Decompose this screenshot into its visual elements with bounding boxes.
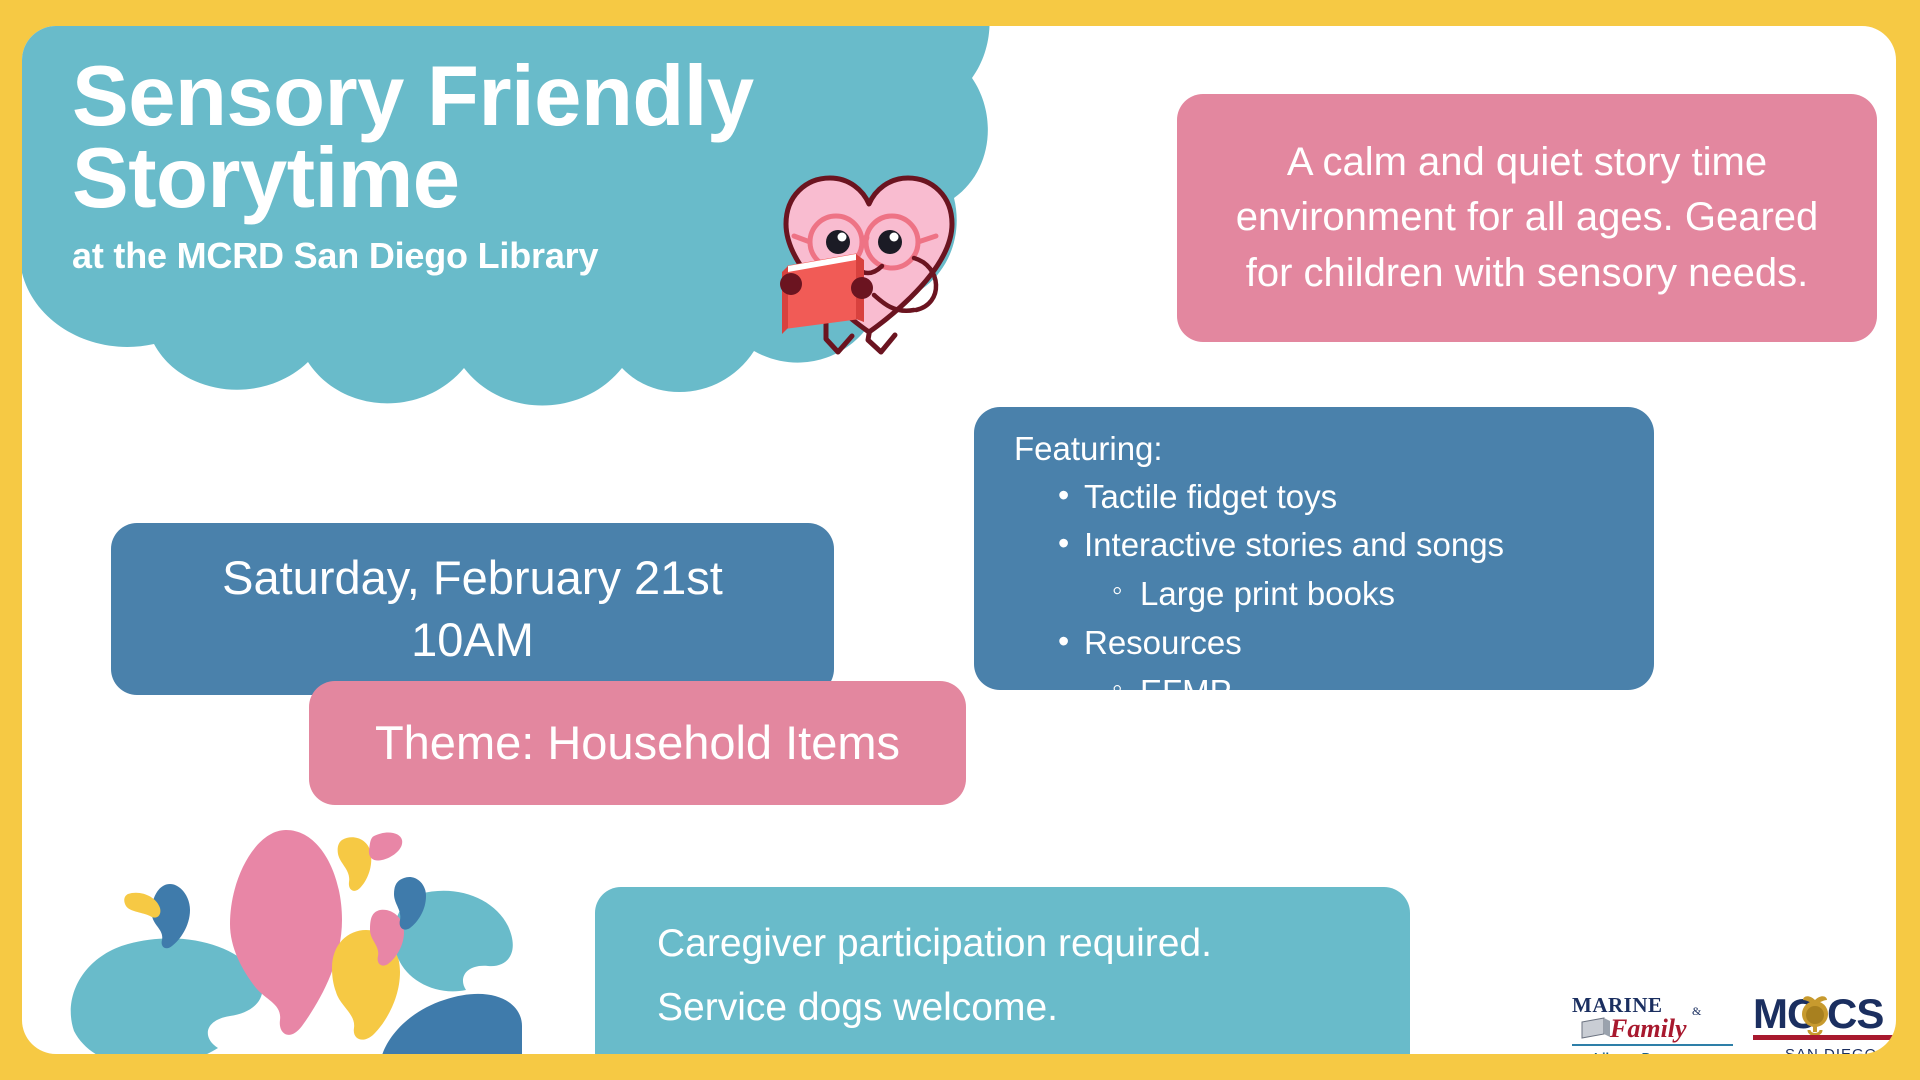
- event-date-text: Saturday, February 21st 10AM: [222, 547, 723, 671]
- family-word: Family: [1609, 1014, 1687, 1043]
- featuring-card: Featuring: Tactile fidget toys Interacti…: [974, 407, 1654, 690]
- event-date-card: Saturday, February 21st 10AM: [111, 523, 834, 695]
- mccs-logo: MC CS SAN DIEGO: [1753, 988, 1896, 1054]
- featuring-title: Featuring:: [1014, 429, 1628, 469]
- theme-text: Theme: Household Items: [375, 715, 900, 771]
- theme-card: Theme: Household Items: [309, 681, 966, 805]
- description-card: A calm and quiet story time environment …: [1177, 94, 1877, 342]
- mccs-location: SAN DIEGO: [1785, 1046, 1877, 1054]
- list-item: Resources: [1058, 619, 1628, 668]
- info-line: Caregiver participation required.: [657, 921, 1410, 967]
- description-text: A calm and quiet story time environment …: [1211, 135, 1843, 301]
- paint-splash-decoration-icon: [52, 816, 522, 1054]
- ampersand: &: [1692, 1004, 1702, 1018]
- reading-heart-mascot-icon: [764, 154, 974, 369]
- logo-row: MARINE & Family Library Program MC CS: [1570, 988, 1896, 1054]
- list-item: Large print books: [1112, 570, 1628, 619]
- library-program-tagline: Library Program: [1594, 1050, 1695, 1054]
- poster-card: Sensory Friendly Storytime at the MCRD S…: [22, 26, 1896, 1054]
- list-item: EFMP: [1112, 668, 1628, 717]
- book-glyph: [1582, 1018, 1610, 1038]
- poster-root: Sensory Friendly Storytime at the MCRD S…: [0, 0, 1920, 1080]
- marine-family-logo: MARINE & Family Library Program: [1570, 988, 1735, 1054]
- info-line: Service dogs welcome.: [657, 985, 1410, 1031]
- list-item: Interactive stories and songs: [1058, 521, 1628, 570]
- info-card: Caregiver participation required. Servic…: [595, 887, 1410, 1054]
- list-item: Tactile fidget toys: [1058, 473, 1628, 522]
- featuring-list: Tactile fidget toys Interactive stories …: [1014, 473, 1628, 766]
- list-item: School Liaison: [1112, 717, 1628, 766]
- info-line: Questions? Call 619-524-1849: [657, 1049, 1410, 1054]
